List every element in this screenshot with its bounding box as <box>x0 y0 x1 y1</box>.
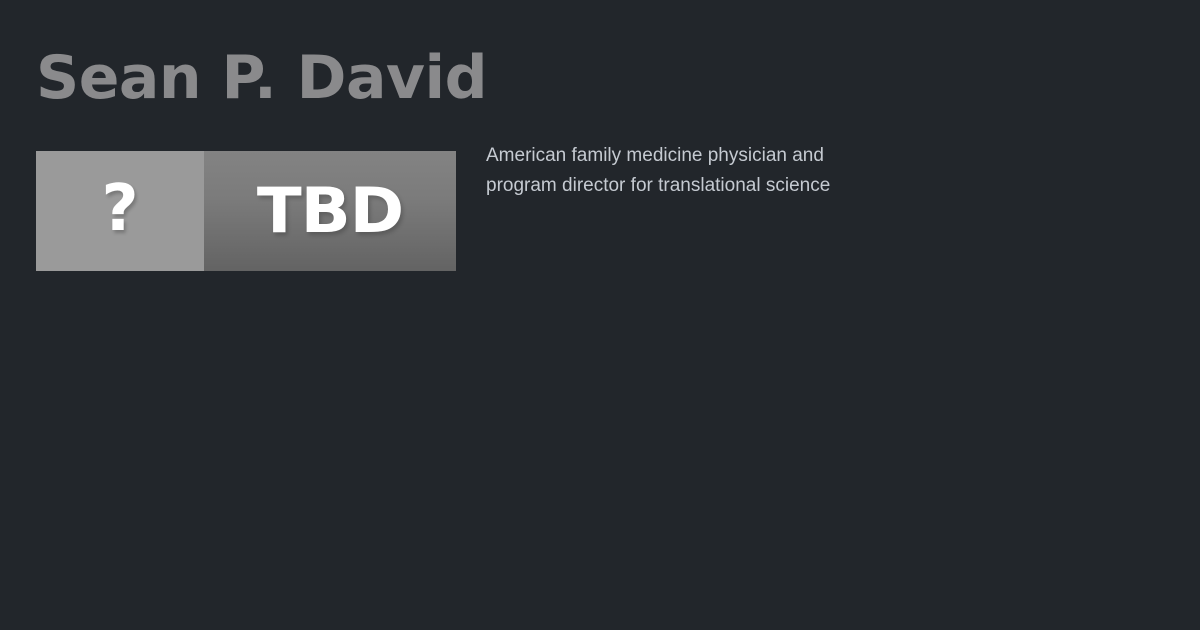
placeholder-tbd-panel: TBD <box>204 151 456 271</box>
page-title: Sean P. David <box>36 42 487 114</box>
question-mark-icon: ? <box>101 177 138 241</box>
content-row: ? TBD American family medicine physician… <box>36 151 1166 271</box>
placeholder-question-panel: ? <box>36 151 204 271</box>
preview-card: Sean P. David ? TBD American family medi… <box>0 0 1200 630</box>
placeholder-tbd-label: TBD <box>257 180 403 242</box>
image-placeholder[interactable]: ? TBD <box>36 151 456 271</box>
description-text: American family medicine physician and p… <box>486 141 886 201</box>
